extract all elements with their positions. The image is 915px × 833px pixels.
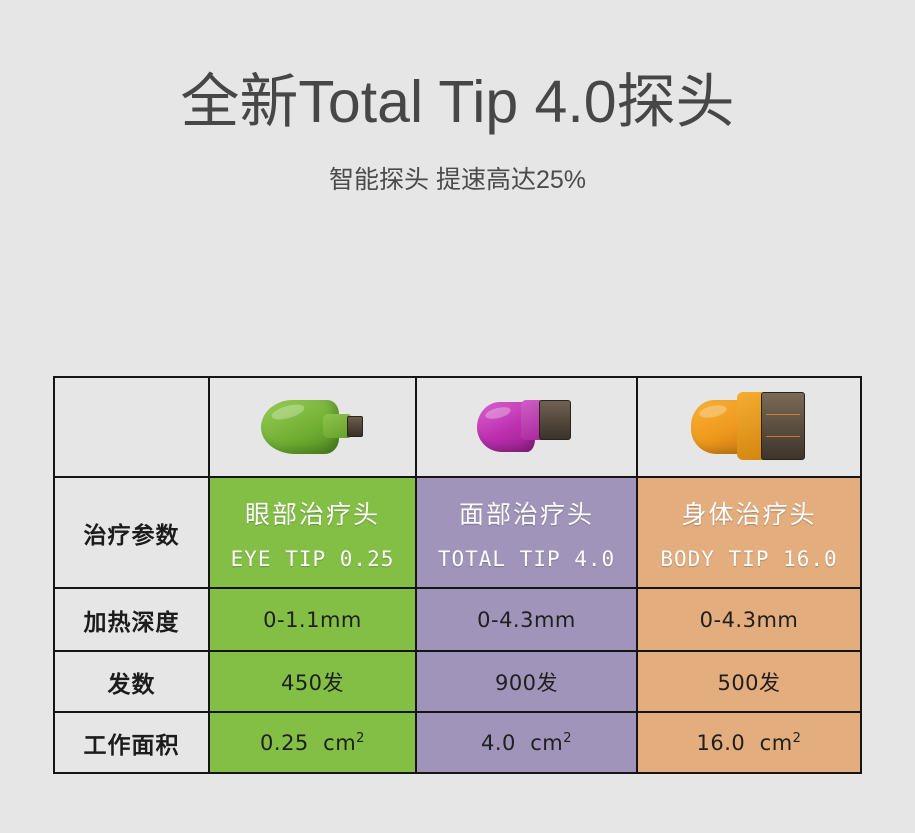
working-area-unit-face: cm [530, 731, 563, 755]
page-title: 全新Total Tip 4.0探头 [0, 72, 915, 134]
tip-head [539, 400, 571, 440]
table-row-heating-depth: 加热深度 0-1.1mm 0-4.3mm 0-4.3mm [54, 588, 861, 651]
value-working-area-eye: 0.25 cm2 [209, 712, 416, 773]
product-name-cn-face: 面部治疗头 [417, 495, 636, 531]
working-area-unit-body: cm [760, 731, 793, 755]
hero-section: 全新Total Tip 4.0探头 智能探头 提速高达25% [0, 72, 915, 196]
orange-body-tip-icon [691, 390, 807, 464]
working-area-exponent-eye: 2 [356, 731, 365, 746]
eye-tip-image-wrap [210, 378, 415, 476]
row-label-shot-count: 发数 [54, 651, 209, 712]
face-tip-image-wrap [417, 378, 636, 476]
product-name-cn-body: 身体治疗头 [638, 495, 860, 531]
value-heating-depth-face: 0-4.3mm [416, 588, 637, 651]
table-row-working-area: 工作面积 0.25 cm2 4.0 cm2 16.0 cm2 [54, 712, 861, 773]
product-spec-page: 全新Total Tip 4.0探头 智能探头 提速高达25% [0, 0, 915, 833]
value-shot-count-face: 900发 [416, 651, 637, 712]
product-name-en-face: TOTAL TIP 4.0 [417, 547, 636, 571]
value-heating-depth-eye: 0-1.1mm [209, 588, 416, 651]
working-area-number-face: 4.0 [481, 731, 516, 755]
working-area-exponent-body: 2 [793, 731, 802, 746]
body-tip-image-wrap [638, 378, 860, 476]
product-header-eye: 眼部治疗头 EYE TIP 0.25 [209, 477, 416, 588]
row-label-working-area: 工作面积 [54, 712, 209, 773]
value-working-area-face: 4.0 cm2 [416, 712, 637, 773]
product-image-cell-eye [209, 377, 416, 477]
table-row-shot-count: 发数 450发 900发 500发 [54, 651, 861, 712]
value-shot-count-eye: 450发 [209, 651, 416, 712]
product-name-cn-eye: 眼部治疗头 [210, 495, 415, 531]
specification-table: 治疗参数 眼部治疗头 EYE TIP 0.25 面部治疗头 TOTAL TIP … [53, 376, 862, 774]
value-working-area-body: 16.0 cm2 [637, 712, 861, 773]
value-shot-count-body: 500发 [637, 651, 861, 712]
working-area-number-body: 16.0 [697, 731, 746, 755]
product-image-cell-body [637, 377, 861, 477]
product-image-cell-face [416, 377, 637, 477]
value-heating-depth-body: 0-4.3mm [637, 588, 861, 651]
working-area-exponent-face: 2 [563, 731, 572, 746]
table-corner-cell [54, 377, 209, 477]
product-header-face: 面部治疗头 TOTAL TIP 4.0 [416, 477, 637, 588]
product-header-body: 身体治疗头 BODY TIP 16.0 [637, 477, 861, 588]
table-row-product-names: 治疗参数 眼部治疗头 EYE TIP 0.25 面部治疗头 TOTAL TIP … [54, 477, 861, 588]
green-eye-tip-icon [261, 396, 365, 458]
tip-head [347, 416, 363, 437]
product-name-en-eye: EYE TIP 0.25 [210, 547, 415, 571]
table-row-product-images [54, 377, 861, 477]
page-subtitle: 智能探头 提速高达25% [0, 160, 915, 196]
row-label-heating-depth: 加热深度 [54, 588, 209, 651]
working-area-unit-eye: cm [323, 731, 356, 755]
tip-head [761, 392, 805, 460]
row-header-treatment-parameters: 治疗参数 [54, 477, 209, 588]
working-area-number-eye: 0.25 [260, 731, 309, 755]
magenta-face-tip-icon [477, 396, 577, 458]
product-name-en-body: BODY TIP 16.0 [638, 547, 860, 571]
